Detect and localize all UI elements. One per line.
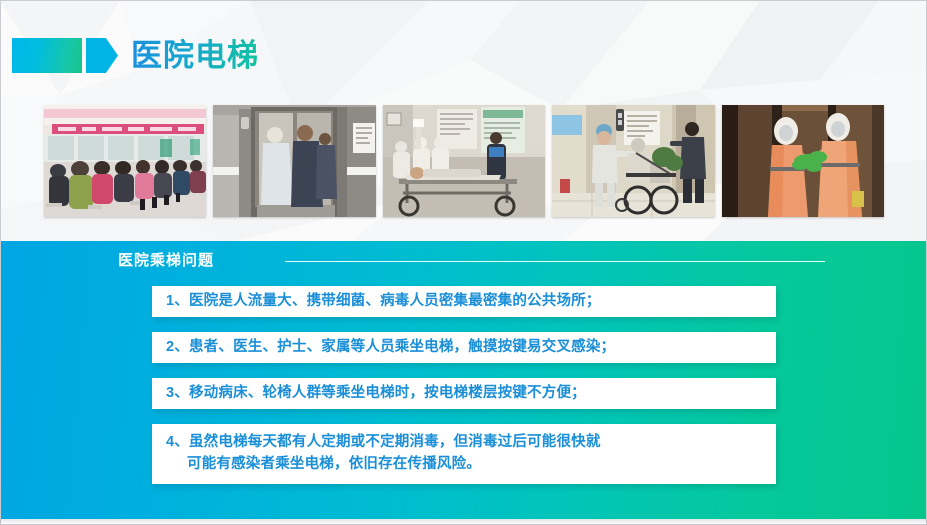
list-item: 2、患者、医生、护士、家属等人员乘坐电梯，触摸按键易交叉感染； — [152, 332, 776, 363]
bullet-list: 1、医院是人流量大、携带细菌、病毒人员密集最密集的公共场所； 2、患者、医生、护… — [152, 286, 776, 484]
slide-canvas: 医院电梯 — [0, 0, 927, 525]
title-bar: 医院电梯 — [0, 30, 927, 82]
title-arrow-icon — [86, 38, 118, 73]
photo-patient-on-gurney-in-ward — [383, 105, 545, 217]
page-title: 医院电梯 — [131, 30, 259, 82]
photo-hospital-waiting-hall-crowd — [44, 105, 206, 217]
photo-strip — [44, 105, 884, 217]
list-item: 4、虽然电梯每天都有人定期或不定期消毒，但消毒过后可能很快就 可能有感染者乘坐电… — [152, 424, 776, 484]
heading-divider — [285, 261, 825, 262]
section-heading: 医院乘梯问题 — [118, 249, 214, 270]
title-tag-rectangle — [12, 38, 82, 73]
list-item-line-2: 可能有感染者乘坐电梯，依旧存在传播风险。 — [166, 453, 766, 475]
photo-nurses-entering-elevator — [213, 105, 375, 217]
list-item: 3、移动病床、轮椅人群等乘坐电梯时，按电梯楼层按键不方便； — [152, 378, 776, 409]
photo-workers-in-hazmat-suits-at-elevator — [722, 105, 884, 217]
photo-nurse-pushing-wheelchair-at-elevator — [552, 105, 714, 217]
list-item: 1、医院是人流量大、携带细菌、病毒人员密集最密集的公共场所； — [152, 286, 776, 317]
slide-bottom-shadow — [0, 519, 927, 525]
list-item-line-1: 4、虽然电梯每天都有人定期或不定期消毒，但消毒过后可能很快就 — [166, 434, 601, 450]
